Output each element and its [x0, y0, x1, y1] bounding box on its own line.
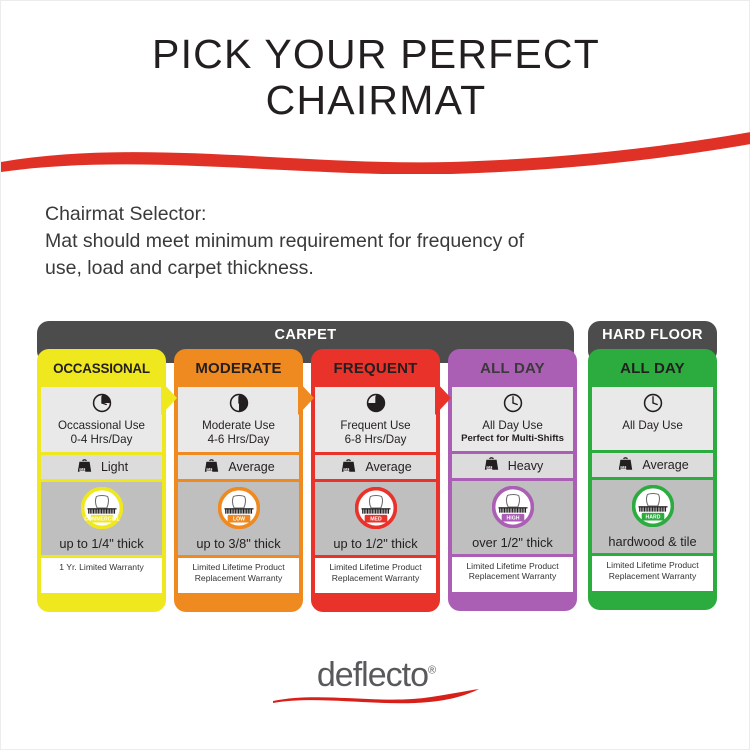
use-cell: Occassional Use0-4 Hrs/Day: [41, 387, 162, 452]
load-label: Light: [101, 460, 128, 474]
load-weight-icon: LOAD: [202, 456, 221, 479]
clock-icon: [642, 401, 664, 418]
column-body-3: Frequent Use6-8 Hrs/DayLOADAverageMEDup …: [315, 387, 436, 593]
column-body-4: All Day UsePerfect for Multi-ShiftsLOADH…: [452, 387, 573, 592]
use-title: All Day Use: [622, 419, 683, 432]
use-text: All Day Use: [594, 419, 711, 433]
warranty-label: Limited Lifetime Product Replacement War…: [594, 560, 711, 581]
thickness-cell: HIGHover 1/2" thick: [452, 481, 573, 554]
column-body-1: Occassional Use0-4 Hrs/DayLOADLightCOMME…: [41, 387, 162, 593]
load-label: Average: [365, 460, 411, 474]
carpet-pile-icon: LOW: [218, 516, 260, 533]
load-label: Heavy: [508, 459, 543, 473]
use-text: Occassional Use0-4 Hrs/Day: [43, 419, 160, 446]
carpet-pile-icon: COMMERCIAL: [81, 516, 123, 533]
use-hours: 6-8 Hrs/Day: [345, 433, 407, 446]
clock-icon: [365, 401, 387, 418]
intro-line-1: Chairmat Selector:: [45, 201, 715, 228]
thickness-label: hardwood & tile: [594, 534, 711, 549]
svg-text:MED: MED: [370, 516, 382, 522]
warranty-cell: Limited Lifetime Product Replacement War…: [315, 558, 436, 593]
load-label: Average: [228, 460, 274, 474]
title-line-1: PICK YOUR PERFECT: [152, 31, 600, 77]
thickness-cell: LOWup to 3/8" thick: [178, 482, 299, 555]
column-body-2: Moderate Use4-6 Hrs/DayLOADAverageLOWup …: [178, 387, 299, 593]
use-text: All Day UsePerfect for Multi-Shifts: [454, 419, 571, 445]
use-title: Moderate Use: [202, 419, 275, 432]
svg-text:COMMERCIAL: COMMERCIAL: [84, 516, 120, 522]
title-heading: PICK YOUR PERFECT CHAIRMAT: [1, 31, 750, 123]
thickness-label: up to 3/8" thick: [180, 536, 297, 551]
load-weight-icon: LOAD: [339, 456, 358, 479]
column-2[interactable]: MODERATEModerate Use4-6 Hrs/DayLOADAvera…: [174, 349, 303, 612]
use-text: Frequent Use6-8 Hrs/Day: [317, 419, 434, 446]
warranty-cell: 1 Yr. Limited Warranty: [41, 558, 162, 593]
load-cell: LOADAverage: [178, 455, 299, 479]
clock-icon: [228, 401, 250, 418]
brand-logo: deflecto®: [1, 656, 750, 705]
page-title: PICK YOUR PERFECT CHAIRMAT: [1, 31, 750, 123]
warranty-label: Limited Lifetime Product Replacement War…: [317, 562, 434, 583]
title-line-2: CHAIRMAT: [1, 77, 750, 123]
use-cell: Moderate Use4-6 Hrs/Day: [178, 387, 299, 452]
use-title: Frequent Use: [340, 419, 410, 432]
thickness-label: up to 1/4" thick: [43, 536, 160, 551]
use-cell: All Day Use: [592, 387, 713, 450]
use-cell: Frequent Use6-8 Hrs/Day: [315, 387, 436, 452]
column-footer: [174, 593, 303, 612]
column-1[interactable]: OCCASSIONALOccassional Use0-4 Hrs/DayLOA…: [37, 349, 166, 612]
load-cell: LOADAverage: [315, 455, 436, 479]
flow-arrow-1: [161, 381, 177, 415]
column-footer: [311, 593, 440, 612]
flow-arrow-3: [435, 381, 451, 415]
svg-text:HARD: HARD: [645, 514, 660, 520]
group-header-carpet-label: CARPET: [37, 321, 574, 343]
flow-arrow-2: [298, 381, 314, 415]
carpet-pile-icon: MED: [355, 516, 397, 533]
selector-table: CARPET HARD FLOOR OCCASSIONALOccassional…: [37, 321, 717, 589]
load-label: Average: [642, 458, 688, 472]
use-title: All Day Use: [482, 419, 543, 432]
carpet-pile-icon: HARD: [632, 514, 674, 531]
use-text: Moderate Use4-6 Hrs/Day: [180, 419, 297, 446]
svg-text:LOAD: LOAD: [78, 468, 88, 472]
warranty-label: Limited Lifetime Product Replacement War…: [454, 561, 571, 582]
column-footer: [37, 593, 166, 612]
load-cell: LOADLight: [41, 455, 162, 479]
warranty-cell: Limited Lifetime Product Replacement War…: [178, 558, 299, 593]
column-header-3: FREQUENT: [311, 349, 440, 387]
use-subtitle: Perfect for Multi-Shifts: [454, 433, 571, 445]
column-header-5: ALL DAY: [588, 349, 717, 387]
use-title: Occassional Use: [58, 419, 145, 432]
load-cell: LOADAverage: [592, 453, 713, 477]
thickness-cell: MEDup to 1/2" thick: [315, 482, 436, 555]
use-cell: All Day UsePerfect for Multi-Shifts: [452, 387, 573, 451]
thickness-cell: HARDhardwood & tile: [592, 480, 713, 553]
brand-wordmark: deflecto®: [317, 656, 435, 695]
intro-line-2: Mat should meet minimum requirement for …: [45, 228, 715, 255]
column-body-5: All Day UseLOADAverageHARDhardwood & til…: [592, 387, 713, 591]
use-hours: 4-6 Hrs/Day: [208, 433, 270, 446]
load-weight-icon: LOAD: [616, 454, 635, 477]
load-weight-icon: LOAD: [482, 454, 501, 477]
svg-text:LOAD: LOAD: [342, 468, 352, 472]
column-header-2: MODERATE: [174, 349, 303, 387]
svg-text:LOAD: LOAD: [205, 468, 215, 472]
column-footer: [448, 592, 577, 611]
intro-text-block: Chairmat Selector: Mat should meet minim…: [45, 201, 715, 282]
header-swoosh-divider: [1, 132, 750, 174]
intro-line-3: use, load and carpet thickness.: [45, 255, 715, 282]
warranty-cell: Limited Lifetime Product Replacement War…: [452, 557, 573, 592]
column-header-1: OCCASSIONAL: [37, 349, 166, 387]
thickness-cell: COMMERCIALup to 1/4" thick: [41, 482, 162, 555]
thickness-label: over 1/2" thick: [454, 535, 571, 550]
thickness-label: up to 1/2" thick: [317, 536, 434, 551]
chairmat-selector-infographic: PICK YOUR PERFECT CHAIRMAT Chairmat Sele…: [0, 0, 750, 750]
clock-icon: [91, 401, 113, 418]
column-footer: [588, 591, 717, 610]
load-weight-icon: LOAD: [75, 456, 94, 479]
svg-text:LOW: LOW: [232, 516, 244, 522]
carpet-pile-icon: HIGH: [492, 515, 534, 532]
column-4[interactable]: ALL DAYAll Day UsePerfect for Multi-Shif…: [448, 349, 577, 611]
clock-icon: [502, 401, 524, 418]
svg-text:LOAD: LOAD: [619, 466, 629, 470]
svg-text:LOAD: LOAD: [485, 466, 495, 470]
registered-mark: ®: [428, 665, 435, 677]
brand-name: deflecto: [317, 656, 428, 694]
column-3[interactable]: FREQUENTFrequent Use6-8 Hrs/DayLOADAvera…: [311, 349, 440, 612]
column-header-4: ALL DAY: [448, 349, 577, 387]
load-cell: LOADHeavy: [452, 454, 573, 478]
warranty-cell: Limited Lifetime Product Replacement War…: [592, 556, 713, 591]
group-header-hard-floor-label: HARD FLOOR: [588, 321, 717, 343]
warranty-label: Limited Lifetime Product Replacement War…: [180, 562, 297, 583]
warranty-label: 1 Yr. Limited Warranty: [43, 562, 160, 573]
use-hours: 0-4 Hrs/Day: [71, 433, 133, 446]
column-5[interactable]: ALL DAYAll Day UseLOADAverageHARDhardwoo…: [588, 349, 717, 610]
svg-text:HIGH: HIGH: [506, 515, 519, 521]
